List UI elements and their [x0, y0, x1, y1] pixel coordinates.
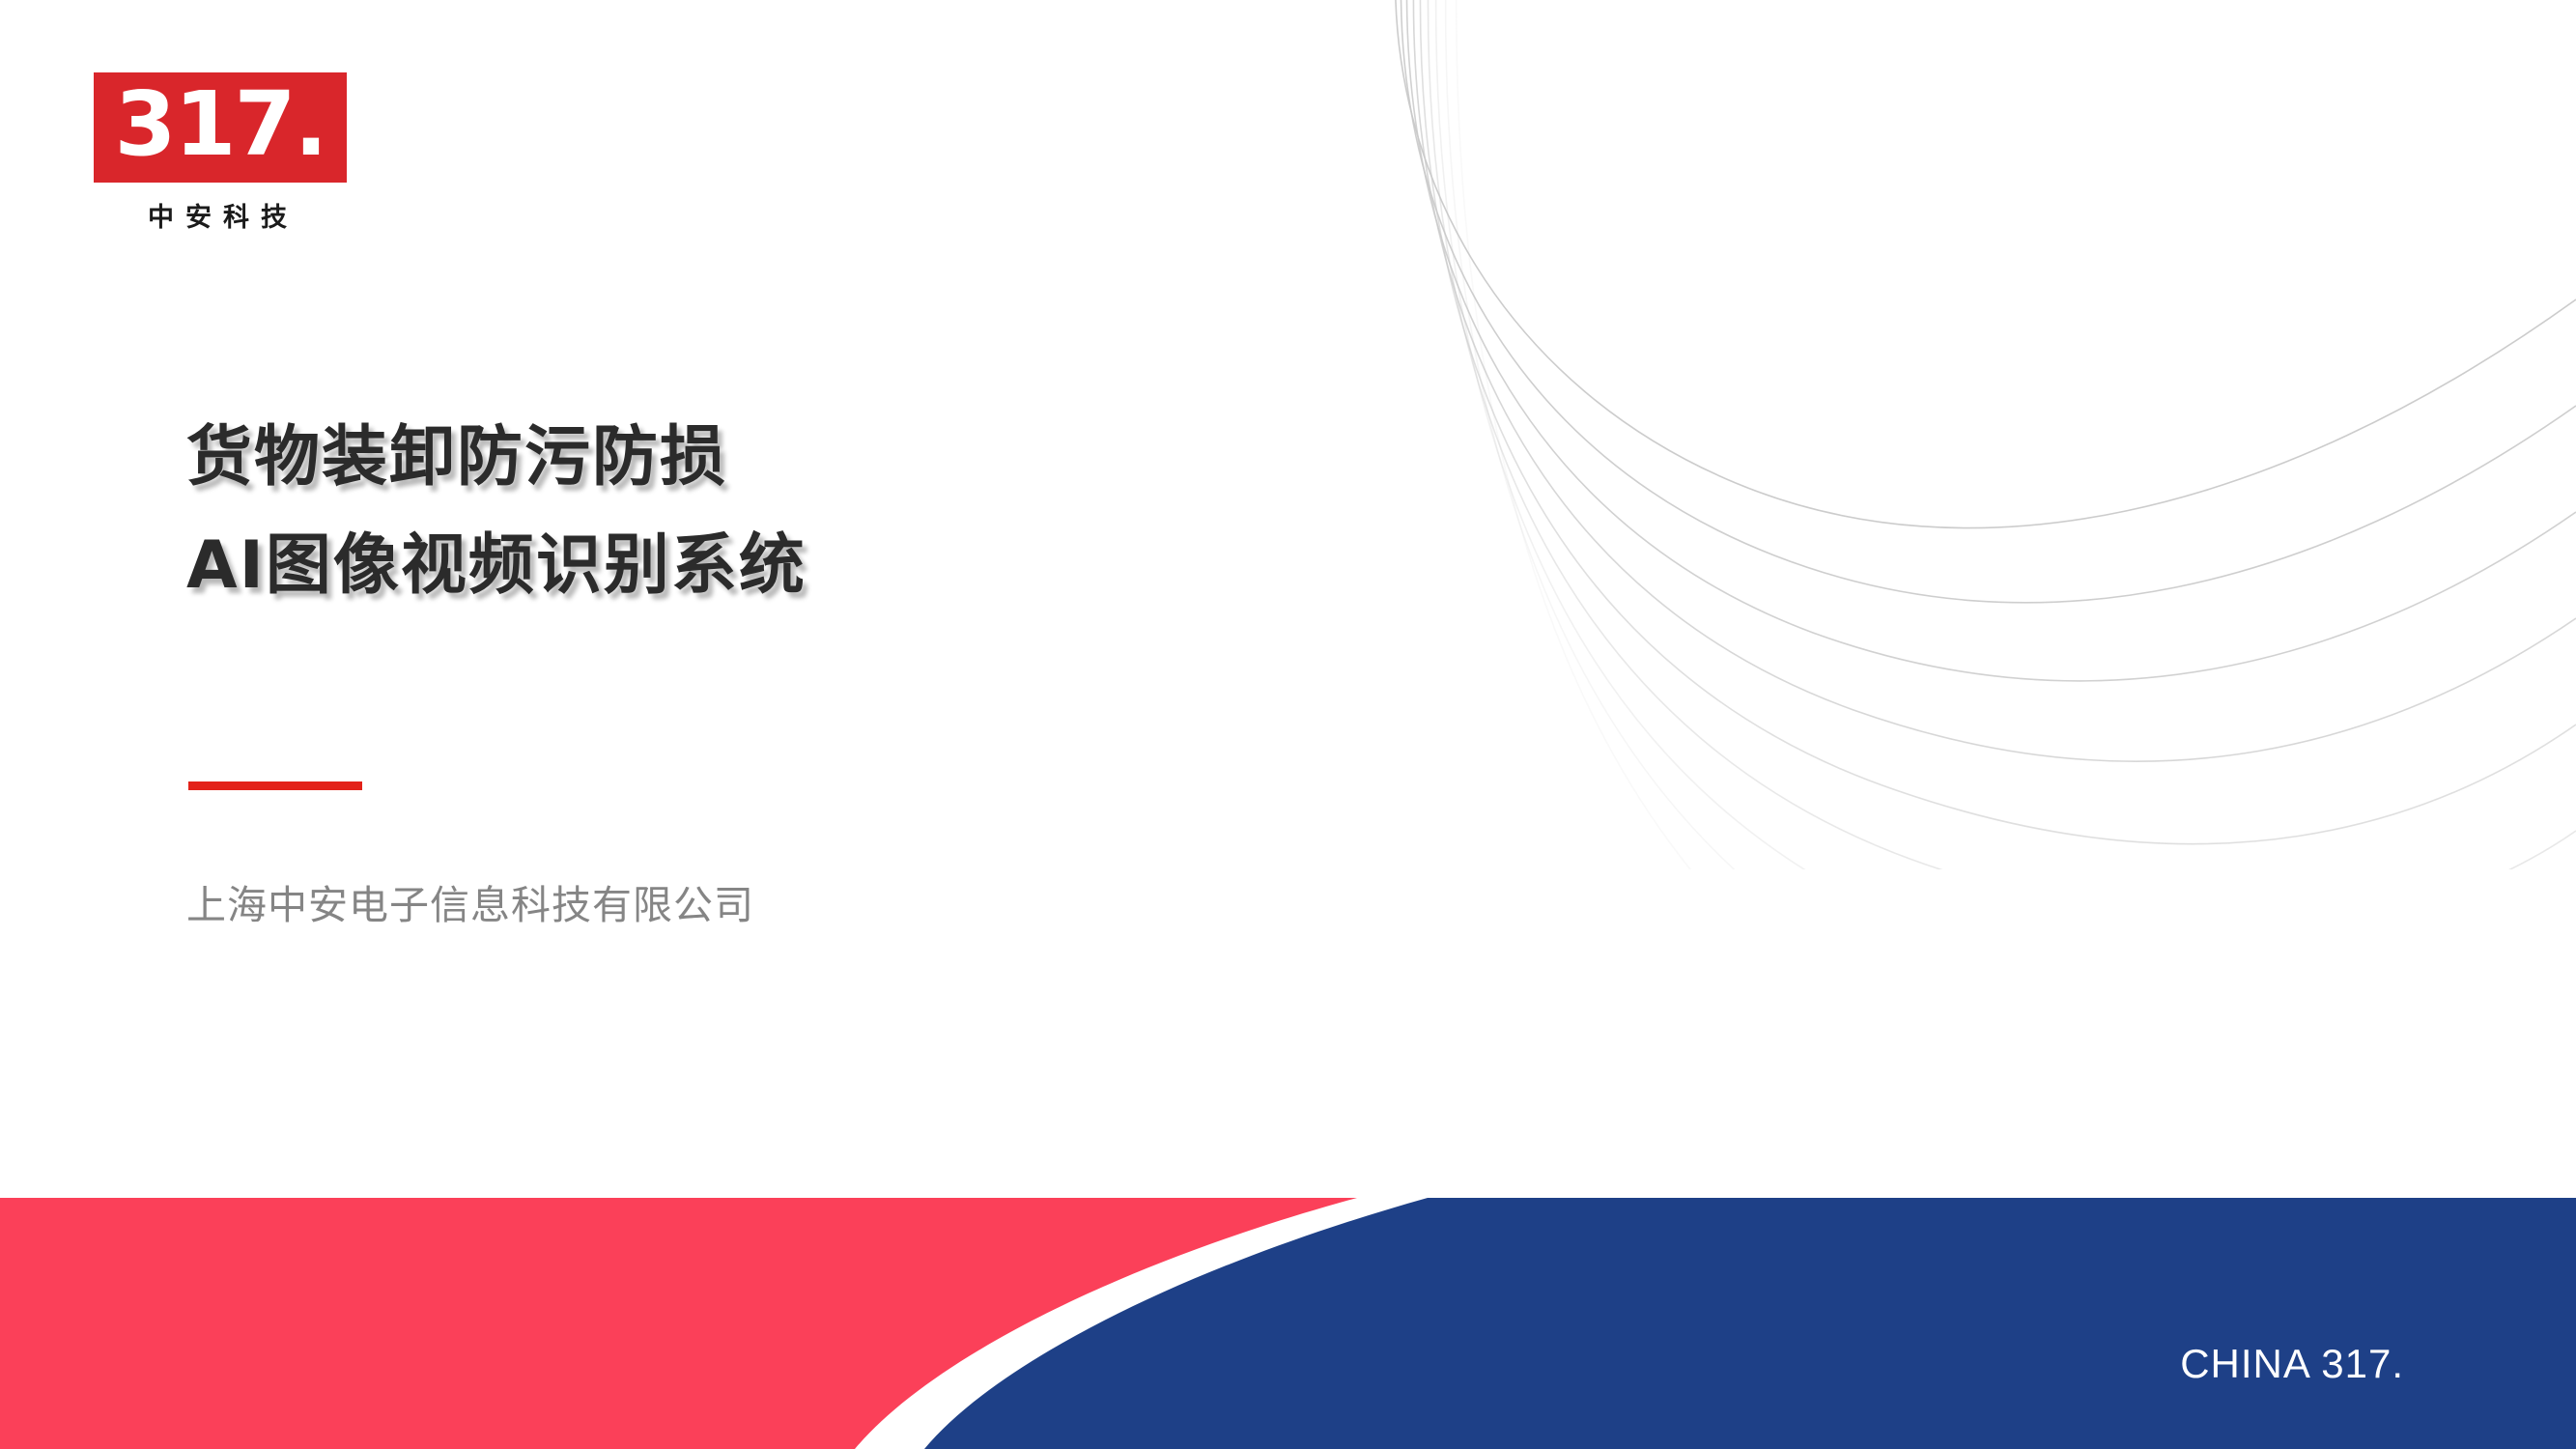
- logo-mark-317: 317.: [94, 72, 347, 183]
- company-logo: 317. 中安科技: [94, 72, 347, 234]
- title-slide: 317. 中安科技 货物装卸防污防损 AI图像视频识别系统 上海中安电子信息科技…: [0, 0, 2576, 1449]
- footer-band-group: [0, 1198, 2576, 1449]
- decorative-swoosh-lines: [1320, 0, 2576, 869]
- footer-brand-label: CHINA 317.: [2180, 1341, 2404, 1387]
- logo-company-name-cn: 中安科技: [94, 196, 347, 234]
- company-subtitle: 上海中安电子信息科技有限公司: [186, 872, 754, 930]
- page-title-line-2: AI图像视频识别系统: [186, 512, 1442, 620]
- page-title-line-1: 货物装卸防污防损: [186, 404, 1442, 512]
- logo-mark-label: 317.: [115, 80, 326, 169]
- page-title: 货物装卸防污防损 AI图像视频识别系统: [186, 404, 1442, 620]
- title-divider-rule: [188, 781, 362, 790]
